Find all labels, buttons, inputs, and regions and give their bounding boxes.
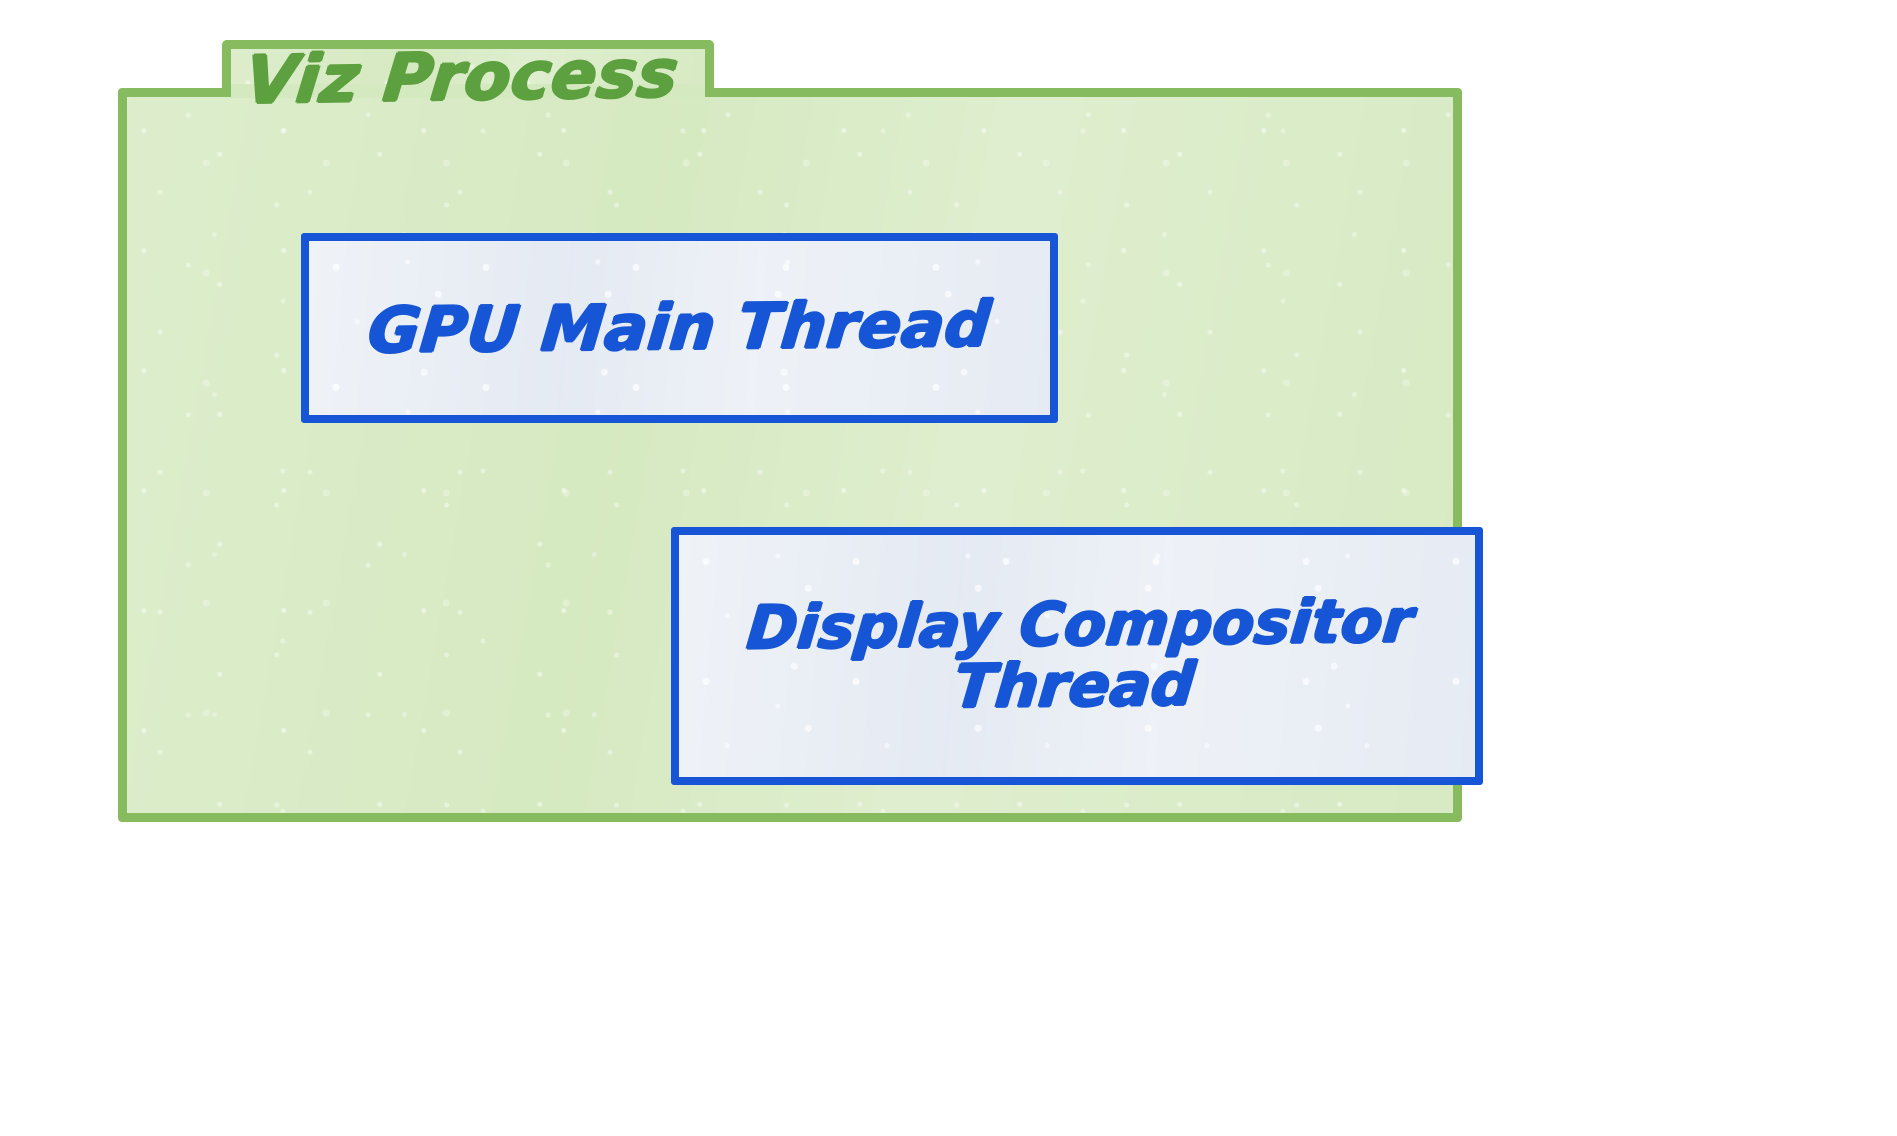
thread-label-line-2: Thread [951,650,1198,723]
thread-label-gpu-main-thread: GPU Main Thread [365,292,993,365]
viz-process-group: Viz Process GPU Main Thread Display Comp… [118,40,1462,822]
thread-box-gpu-main-thread[interactable]: GPU Main Thread [301,233,1058,423]
viz-process-title: Viz Process [242,32,871,119]
diagram-canvas: Viz Process GPU Main Thread Display Comp… [0,0,1897,1136]
thread-box-display-compositor-thread[interactable]: Display Compositor Thread [671,527,1483,785]
thread-label-display-compositor-thread: Display Compositor Thread [720,591,1433,721]
